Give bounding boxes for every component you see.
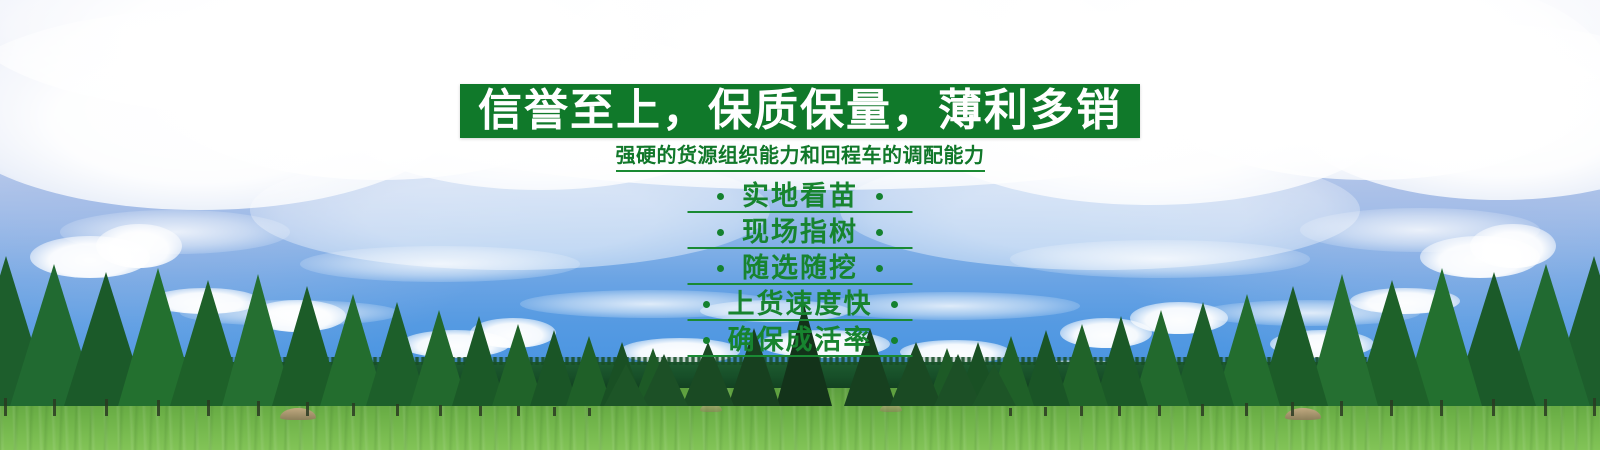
feature-item: 实地看苗 — [0, 178, 1600, 214]
subtitle-text: 强硬的货源组织能力和回程车的调配能力 — [616, 143, 985, 172]
bullet-dot-icon — [717, 193, 724, 200]
headline-bar: 信誉至上，保质保量，薄利多销 — [460, 84, 1140, 138]
bullet-dot-icon — [717, 265, 724, 272]
bullet-dot-icon — [703, 301, 710, 308]
feature-underline — [688, 319, 913, 321]
bullet-dot-icon — [876, 265, 883, 272]
feature-item: 现场指树 — [0, 214, 1600, 250]
bullet-dot-icon — [891, 337, 898, 344]
subtitle-wrapper: 强硬的货源组织能力和回程车的调配能力 — [0, 143, 1600, 172]
bullet-dot-icon — [891, 301, 898, 308]
bullet-dot-icon — [717, 229, 724, 236]
feature-item: 确保成活率 — [0, 322, 1600, 358]
bullet-dot-icon — [703, 337, 710, 344]
feature-underline — [688, 247, 913, 249]
headline-text: 信誉至上，保质保量，薄利多销 — [478, 89, 1122, 133]
feature-label: 上货速度快 — [728, 291, 873, 318]
feature-underline — [688, 283, 913, 285]
promo-banner: 信誉至上，保质保量，薄利多销 强硬的货源组织能力和回程车的调配能力 实地看苗 现… — [0, 0, 1600, 450]
feature-list: 实地看苗 现场指树 随选随挖 上货速度快 — [0, 178, 1600, 358]
feature-label: 确保成活率 — [728, 327, 873, 354]
feature-label: 现场指树 — [742, 219, 858, 246]
bullet-dot-icon — [876, 229, 883, 236]
bullet-dot-icon — [876, 193, 883, 200]
feature-underline — [688, 355, 913, 357]
feature-item: 随选随挖 — [0, 250, 1600, 286]
feature-underline — [688, 211, 913, 213]
feature-item: 上货速度快 — [0, 286, 1600, 322]
feature-label: 实地看苗 — [742, 183, 858, 210]
feature-label: 随选随挖 — [742, 255, 858, 282]
